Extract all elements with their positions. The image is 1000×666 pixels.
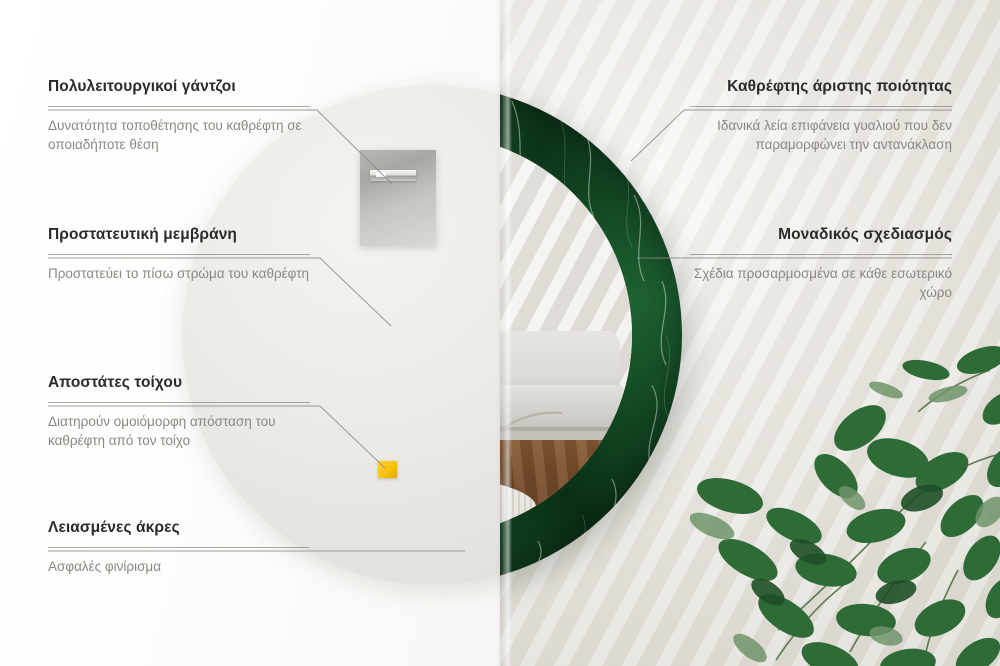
callout-membrane-rule: [48, 254, 310, 255]
callout-hooks-description: Δυνατότητα τοποθέτησης του καθρέφτη σε ο…: [48, 116, 310, 154]
callout-edges: Λειασμένες άκρες Ασφαλές φινίρισμα: [48, 519, 310, 576]
protective-membrane-patch: [360, 150, 436, 246]
split-seam-shadow: [496, 0, 512, 666]
mirror-glass-reflection: [500, 135, 632, 535]
callout-unique-design-description: Σχέδια προσαρμοσμένα σε κάθε εσωτερικό χ…: [690, 264, 952, 302]
callout-unique-design: Μοναδικός σχεδιασμός Σχέδια προσαρμοσμέν…: [690, 226, 952, 302]
callout-hooks-title: Πολυλειτουργικοί γάντζοι: [48, 78, 310, 97]
callout-quality-mirror-description: Ιδανικά λεία επιφάνεια γυαλιού που δεν π…: [690, 116, 952, 154]
callout-spacers-description: Διατηρούν ομοιόμορφη απόσταση του καθρέφ…: [48, 412, 310, 450]
callout-quality-mirror-title: Καθρέφτης άριστης ποιότητας: [690, 78, 952, 97]
callout-hooks-rule: [48, 106, 310, 107]
callout-spacers: Αποστάτες τοίχου Διατηρούν ομοιόμορφη απ…: [48, 374, 310, 450]
infographic-canvas: Πολυλειτουργικοί γάντζοι Δυνατότητα τοπο…: [0, 0, 1000, 666]
callout-membrane-description: Προστατεύει το πίσω στρώμα του καθρέφτη: [48, 264, 310, 283]
callout-edges-title: Λειασμένες άκρες: [48, 519, 310, 538]
mirror-back-disc: [182, 85, 501, 585]
callout-edges-rule: [48, 547, 310, 548]
callout-membrane: Προστατευτική μεμβράνη Προστατεύει το πί…: [48, 226, 310, 283]
callout-quality-mirror-rule: [690, 106, 952, 107]
callout-hooks: Πολυλειτουργικοί γάντζοι Δυνατότητα τοπο…: [48, 78, 310, 154]
callout-quality-mirror: Καθρέφτης άριστης ποιότητας Ιδανικά λεία…: [690, 78, 952, 154]
callout-spacers-title: Αποστάτες τοίχου: [48, 374, 310, 393]
callout-membrane-title: Προστατευτική μεμβράνη: [48, 226, 310, 245]
decorative-plant: [690, 330, 1000, 666]
callout-unique-design-rule: [690, 254, 952, 255]
callout-spacers-rule: [48, 402, 310, 403]
callout-unique-design-title: Μοναδικός σχεδιασμός: [690, 226, 952, 245]
callout-edges-description: Ασφαλές φινίρισμα: [48, 557, 310, 576]
wall-spacer-block: [378, 461, 397, 478]
hanging-hook-strip: [370, 170, 416, 181]
